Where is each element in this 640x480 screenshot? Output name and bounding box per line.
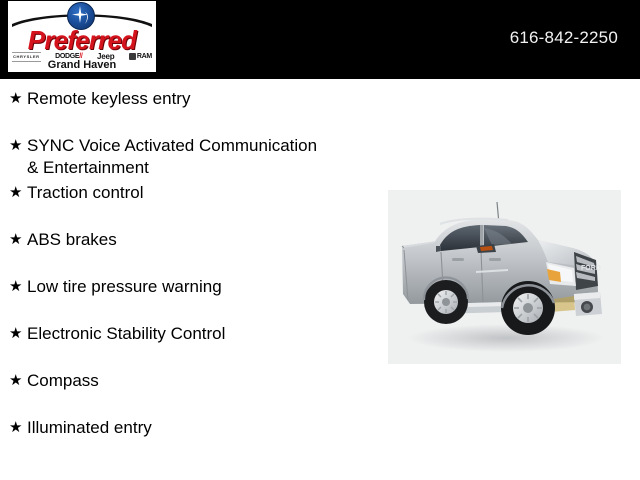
star-bullet-icon: ★ xyxy=(9,229,27,251)
feature-label: SYNC Voice Activated Communication & Ent… xyxy=(27,135,400,179)
dealer-vehicle-features-page: Preferred CHRYSLER DODGE// Jeep RAM Gran… xyxy=(0,0,640,480)
star-bullet-icon: ★ xyxy=(9,276,27,298)
star-bullet-icon: ★ xyxy=(9,370,27,392)
feature-label: Remote keyless entry xyxy=(27,88,400,110)
pickup-truck-illustration: FORD xyxy=(388,190,621,364)
feature-label: Low tire pressure warning xyxy=(27,276,400,298)
feature-label: Compass xyxy=(27,370,400,392)
dealer-logo[interactable]: Preferred CHRYSLER DODGE// Jeep RAM Gran… xyxy=(8,1,156,72)
logo-wordmark: Preferred xyxy=(8,27,156,53)
logo-city-label: Grand Haven xyxy=(8,59,156,72)
star-bullet-icon: ★ xyxy=(9,417,27,439)
list-item: ★Remote keyless entry xyxy=(0,88,400,135)
feature-label: ABS brakes xyxy=(27,229,400,251)
star-bullet-icon: ★ xyxy=(9,182,27,204)
feature-label: Illuminated entry xyxy=(27,417,400,439)
svg-text:FORD: FORD xyxy=(581,265,601,272)
vehicle-photo[interactable]: FORD xyxy=(388,190,621,364)
list-item: ★SYNC Voice Activated Communication & En… xyxy=(0,135,400,182)
star-bullet-icon: ★ xyxy=(9,88,27,110)
star-bullet-icon: ★ xyxy=(9,323,27,345)
vehicle-features-list: ★Remote keyless entry★SYNC Voice Activat… xyxy=(0,88,400,464)
list-item: ★Electronic Stability Control xyxy=(0,323,400,370)
list-item: ★Traction control xyxy=(0,182,400,229)
feature-label: Traction control xyxy=(27,182,400,204)
list-item: ★ABS brakes xyxy=(0,229,400,276)
page-header: Preferred CHRYSLER DODGE// Jeep RAM Gran… xyxy=(0,0,640,79)
star-bullet-icon: ★ xyxy=(9,135,27,157)
list-item: ★Low tire pressure warning xyxy=(0,276,400,323)
list-item: ★Compass xyxy=(0,370,400,417)
feature-label: Electronic Stability Control xyxy=(27,323,400,345)
dealer-phone-number[interactable]: 616-842-2250 xyxy=(510,28,618,48)
list-item: ★Illuminated entry xyxy=(0,417,400,464)
